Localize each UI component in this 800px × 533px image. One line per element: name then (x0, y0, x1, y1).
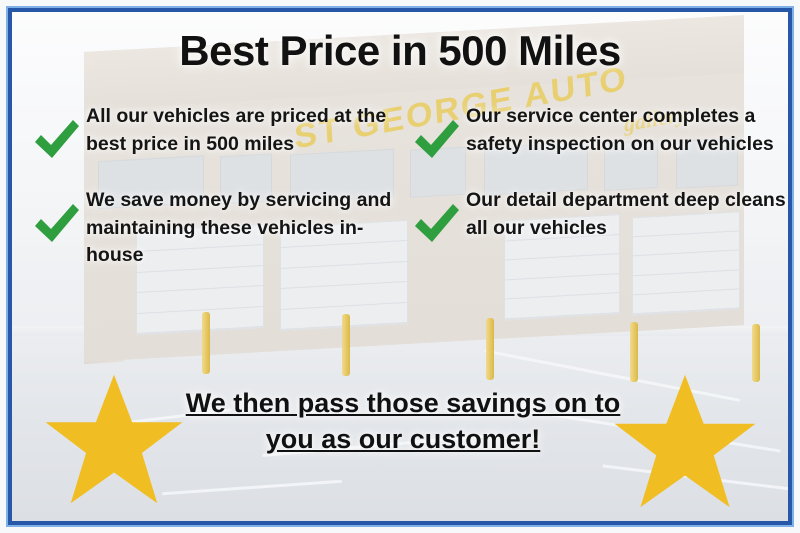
benefit-item-3: We save money by servicing and maintaini… (12, 184, 404, 270)
closing-statement: We then pass those savings on to you as … (180, 386, 626, 458)
benefit-item-1: All our vehicles are priced at the best … (12, 100, 404, 166)
benefit-item-2: Our service center completes a safety in… (404, 100, 788, 166)
green-check-icon (410, 112, 462, 166)
benefit-item-4: Our detail department deep cleans all ou… (404, 184, 788, 270)
benefits-row-2: We save money by servicing and maintaini… (12, 184, 788, 270)
promo-poster: ST GEORGE AUTO gallery (0, 0, 800, 533)
benefit-item-4-label: Our detail department deep cleans all ou… (466, 184, 788, 242)
page-title: Best Price in 500 Miles (12, 29, 788, 73)
benefit-item-3-label: We save money by servicing and maintaini… (86, 184, 404, 270)
poster-content: Best Price in 500 Miles All our vehicles… (12, 12, 788, 521)
benefits-list: All our vehicles are priced at the best … (12, 100, 788, 270)
green-check-icon (30, 112, 82, 166)
green-check-icon (410, 196, 462, 250)
benefits-row-1: All our vehicles are priced at the best … (12, 100, 788, 166)
benefit-item-2-label: Our service center completes a safety in… (466, 100, 788, 158)
green-check-icon (30, 196, 82, 250)
benefit-item-1-label: All our vehicles are priced at the best … (86, 100, 404, 158)
